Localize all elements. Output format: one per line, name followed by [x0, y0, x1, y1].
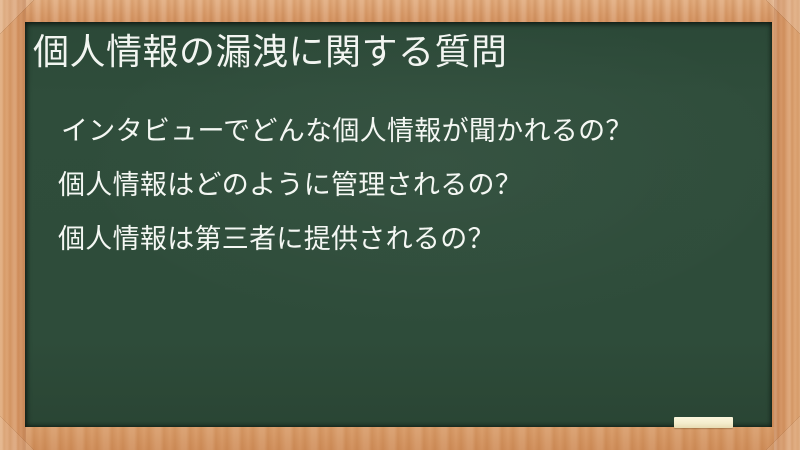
board-question-list: インタビューでどんな個人情報が聞かれるの？ 個人情報はどのように管理されるの？ … [58, 104, 758, 266]
board-title: 個人情報の漏洩に関する質問 [33, 28, 753, 76]
chalkboard-slide: 個人情報の漏洩に関する質問 インタビューでどんな個人情報が聞かれるの？ 個人情報… [0, 0, 800, 450]
chalkboard-surface: 個人情報の漏洩に関する質問 インタビューでどんな個人情報が聞かれるの？ 個人情報… [25, 22, 772, 427]
board-question-item: 個人情報は第三者に提供されるの？ [58, 212, 758, 266]
frame-rail-top [0, 0, 800, 22]
frame-rail-bottom [0, 427, 800, 450]
board-question-item: インタビューでどんな個人情報が聞かれるの？ [61, 104, 758, 158]
chalk-stick-icon [674, 417, 733, 428]
board-question-item: 個人情報はどのように管理されるの？ [58, 158, 758, 212]
frame-rail-left [0, 0, 26, 450]
frame-rail-right [774, 0, 800, 450]
